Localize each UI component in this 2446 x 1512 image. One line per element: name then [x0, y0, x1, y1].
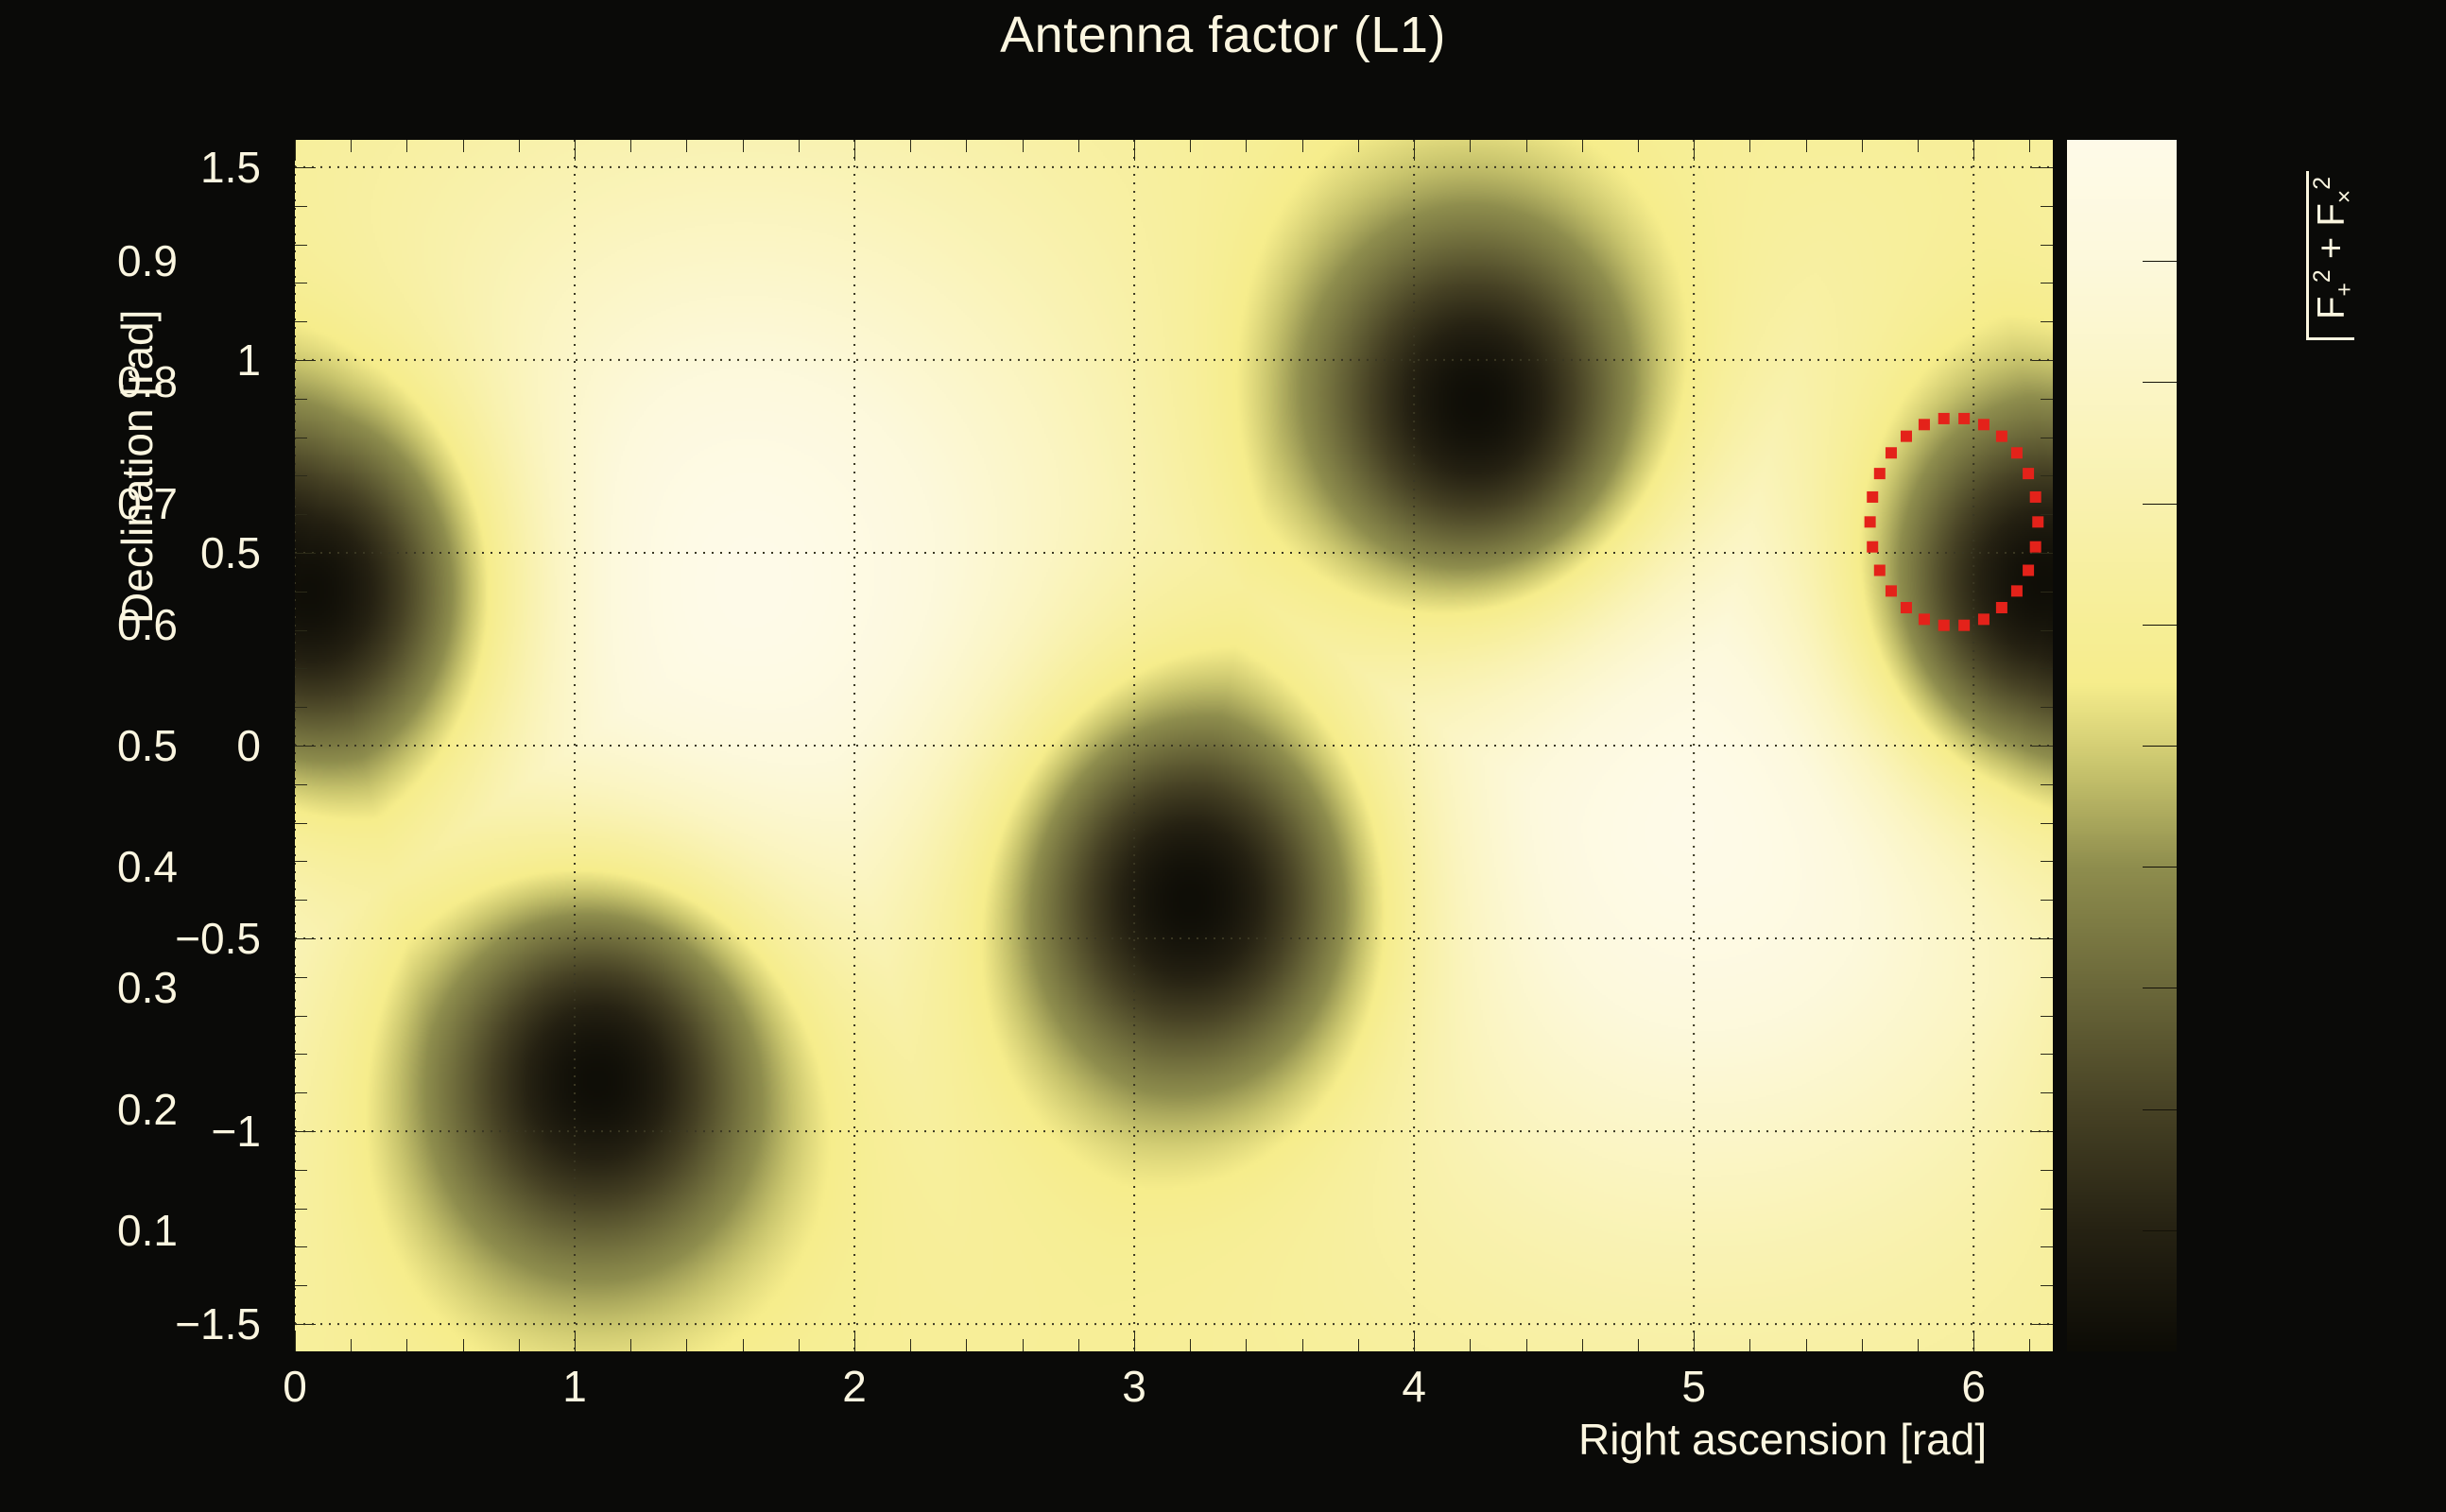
y-minor-tick — [2041, 245, 2053, 246]
y-major-tick — [295, 360, 316, 361]
colorbar-tick — [2143, 261, 2177, 262]
x-minor-tick — [1246, 140, 1247, 152]
x-minor-tick — [799, 1339, 800, 1351]
y-minor-tick — [295, 1170, 307, 1171]
page-title: Antenna factor (L1) — [0, 6, 2446, 64]
y-minor-tick — [295, 823, 307, 824]
y-minor-tick — [2041, 823, 2053, 824]
y-minor-tick — [2041, 283, 2053, 283]
y-minor-tick — [295, 438, 307, 438]
y-major-tick — [2032, 167, 2053, 168]
y-minor-tick — [2041, 1054, 2053, 1055]
y-minor-tick — [295, 861, 307, 862]
y-minor-tick — [295, 1054, 307, 1055]
y-minor-tick — [2041, 861, 2053, 862]
x-minor-tick — [1582, 140, 1583, 152]
y-minor-tick — [2041, 784, 2053, 785]
x-minor-tick — [1749, 140, 1750, 152]
x-major-tick — [1973, 140, 1974, 161]
x-minor-tick — [1862, 140, 1863, 152]
x-minor-tick — [1918, 140, 1919, 152]
colorbar-tick — [2143, 988, 2177, 988]
y-minor-tick — [295, 977, 307, 978]
x-tick-label: 5 — [1681, 1361, 1706, 1412]
y-minor-tick — [295, 245, 307, 246]
x-major-tick — [1414, 140, 1415, 161]
colorbar-tick-label: 0.3 — [117, 962, 178, 1013]
x-minor-tick — [463, 1339, 464, 1351]
y-minor-tick — [295, 475, 307, 476]
colorbar-tick — [2143, 504, 2177, 505]
y-major-tick — [295, 746, 316, 747]
y-minor-tick — [295, 630, 307, 631]
x-minor-tick — [743, 140, 744, 152]
y-minor-tick — [2041, 206, 2053, 207]
x-minor-tick — [686, 140, 687, 152]
colorbar-tick — [2143, 1109, 2177, 1110]
colorbar-tick-label: 0.1 — [117, 1205, 178, 1256]
y-major-tick — [2032, 360, 2053, 361]
x-minor-tick — [910, 1339, 911, 1351]
x-minor-tick — [463, 140, 464, 152]
x-tick-label: 3 — [1122, 1361, 1146, 1412]
y-major-tick — [2032, 746, 2053, 747]
colorbar-tick-label: 0.4 — [117, 841, 178, 892]
x-tick-label: 6 — [1961, 1361, 1986, 1412]
y-minor-tick — [2041, 475, 2053, 476]
y-minor-tick — [295, 707, 307, 708]
x-minor-tick — [406, 140, 407, 152]
x-minor-tick — [1862, 1339, 1863, 1351]
x-minor-tick — [1918, 1339, 1919, 1351]
x-tick-label: 1 — [562, 1361, 587, 1412]
y-major-tick — [295, 1131, 316, 1132]
x-minor-tick — [1023, 140, 1024, 152]
x-minor-tick — [1470, 1339, 1471, 1351]
x-minor-tick — [1638, 1339, 1639, 1351]
y-major-tick — [295, 1324, 316, 1325]
y-major-tick — [2032, 1324, 2053, 1325]
x-major-tick — [295, 1331, 296, 1351]
y-tick-label: −1.5 — [175, 1298, 261, 1349]
colorbar — [2067, 140, 2177, 1351]
x-minor-tick — [406, 1339, 407, 1351]
y-minor-tick — [295, 1209, 307, 1210]
colorbar-tick — [2143, 867, 2177, 868]
y-minor-tick — [2041, 1285, 2053, 1286]
x-minor-tick — [519, 1339, 520, 1351]
heatmap-plot-area — [295, 140, 2053, 1351]
x-major-tick — [1694, 140, 1695, 161]
y-minor-tick — [2041, 1209, 2053, 1210]
y-tick-label: 1 — [236, 335, 261, 386]
x-minor-tick — [1638, 140, 1639, 152]
x-minor-tick — [1470, 140, 1471, 152]
y-tick-label: 1.5 — [200, 142, 261, 193]
x-minor-tick — [1582, 1339, 1583, 1351]
x-minor-tick — [2029, 140, 2030, 152]
y-minor-tick — [2041, 592, 2053, 593]
x-minor-tick — [1190, 140, 1191, 152]
x-major-tick — [854, 140, 855, 161]
y-minor-tick — [295, 1285, 307, 1286]
f-plus-subscript: + — [2332, 283, 2357, 296]
x-major-tick — [1134, 140, 1135, 161]
x-major-tick — [854, 1331, 855, 1351]
x-minor-tick — [1302, 1339, 1303, 1351]
plus-operator: + — [2310, 237, 2351, 259]
f-plus-exponent: 2 — [2310, 269, 2335, 283]
x-minor-tick — [351, 1339, 352, 1351]
y-major-tick — [2032, 1131, 2053, 1132]
y-minor-tick — [2041, 630, 2053, 631]
y-tick-label: −1 — [212, 1106, 261, 1157]
square-root-symbol: F+2 + F×2 — [2306, 173, 2358, 340]
x-minor-tick — [1526, 1339, 1527, 1351]
y-minor-tick — [2041, 1092, 2053, 1093]
y-minor-tick — [2041, 321, 2053, 322]
x-minor-tick — [1078, 140, 1079, 152]
x-minor-tick — [799, 140, 800, 152]
colorbar-tick — [2143, 746, 2177, 747]
x-tick-label: 4 — [1402, 1361, 1426, 1412]
x-tick-label: 0 — [283, 1361, 307, 1412]
x-minor-tick — [966, 140, 967, 152]
x-major-tick — [295, 140, 296, 161]
y-minor-tick — [295, 668, 307, 669]
x-minor-tick — [1246, 1339, 1247, 1351]
y-minor-tick — [2041, 438, 2053, 438]
x-major-tick — [1414, 1331, 1415, 1351]
y-major-tick — [2032, 938, 2053, 939]
x-minor-tick — [519, 140, 520, 152]
y-minor-tick — [2041, 1246, 2053, 1247]
x-major-tick — [575, 1331, 576, 1351]
x-minor-tick — [1358, 140, 1359, 152]
x-minor-tick — [1358, 1339, 1359, 1351]
x-minor-tick — [686, 1339, 687, 1351]
y-major-tick — [295, 938, 316, 939]
colorbar-tick-label: 0.2 — [117, 1084, 178, 1135]
y-major-tick — [295, 167, 316, 168]
y-tick-label: 0 — [236, 720, 261, 771]
x-minor-tick — [351, 140, 352, 152]
y-minor-tick — [295, 283, 307, 283]
x-minor-tick — [2029, 1339, 2030, 1351]
x-axis-title: Right ascension [rad] — [1578, 1414, 1987, 1465]
f-cross-subscript: × — [2332, 190, 2357, 203]
plot-canvas-root: Antenna factor (L1) 0123456 1.510.50−0.5… — [0, 0, 2446, 1512]
x-tick-label: 2 — [842, 1361, 867, 1412]
x-minor-tick — [1302, 140, 1303, 152]
y-minor-tick — [295, 399, 307, 400]
colorbar-tick-label: 0.6 — [117, 599, 178, 650]
y-minor-tick — [295, 1092, 307, 1093]
colorbar-tick-label: 0.9 — [117, 235, 178, 286]
y-tick-label: −0.5 — [175, 913, 261, 964]
y-minor-tick — [295, 592, 307, 593]
x-major-tick — [575, 140, 576, 161]
y-minor-tick — [295, 1016, 307, 1017]
colorbar-tick — [2143, 382, 2177, 383]
x-minor-tick — [1749, 1339, 1750, 1351]
x-minor-tick — [630, 140, 631, 152]
colorbar-tick-label: 0.7 — [117, 478, 178, 529]
x-minor-tick — [1190, 1339, 1191, 1351]
x-minor-tick — [1078, 1339, 1079, 1351]
y-minor-tick — [2041, 977, 2053, 978]
x-minor-tick — [910, 140, 911, 152]
colorbar-tick-label: 0.5 — [117, 720, 178, 771]
y-minor-tick — [2041, 668, 2053, 669]
x-minor-tick — [743, 1339, 744, 1351]
y-minor-tick — [2041, 900, 2053, 901]
x-minor-tick — [1526, 140, 1527, 152]
colorbar-tick — [2143, 1230, 2177, 1231]
heatmap-image — [295, 140, 2053, 1351]
x-major-tick — [1973, 1331, 1974, 1351]
y-minor-tick — [295, 1246, 307, 1247]
x-minor-tick — [630, 1339, 631, 1351]
x-minor-tick — [966, 1339, 967, 1351]
y-minor-tick — [295, 321, 307, 322]
x-minor-tick — [1806, 140, 1807, 152]
y-minor-tick — [2041, 1170, 2053, 1171]
x-major-tick — [1694, 1331, 1695, 1351]
y-minor-tick — [2041, 1016, 2053, 1017]
x-major-tick — [1134, 1331, 1135, 1351]
y-major-tick — [295, 553, 316, 554]
y-minor-tick — [295, 900, 307, 901]
f-cross-exponent: 2 — [2310, 177, 2335, 190]
y-minor-tick — [295, 514, 307, 515]
y-minor-tick — [2041, 514, 2053, 515]
colorbar-tick — [2143, 625, 2177, 626]
y-minor-tick — [295, 206, 307, 207]
x-minor-tick — [1023, 1339, 1024, 1351]
colorbar-title: F+2 + F×2 — [2306, 173, 2358, 340]
x-minor-tick — [1806, 1339, 1807, 1351]
y-minor-tick — [2041, 707, 2053, 708]
y-tick-label: 0.5 — [200, 527, 261, 578]
y-minor-tick — [2041, 399, 2053, 400]
y-major-tick — [2032, 553, 2053, 554]
y-minor-tick — [295, 784, 307, 785]
colorbar-tick-label: 0.8 — [117, 356, 178, 407]
